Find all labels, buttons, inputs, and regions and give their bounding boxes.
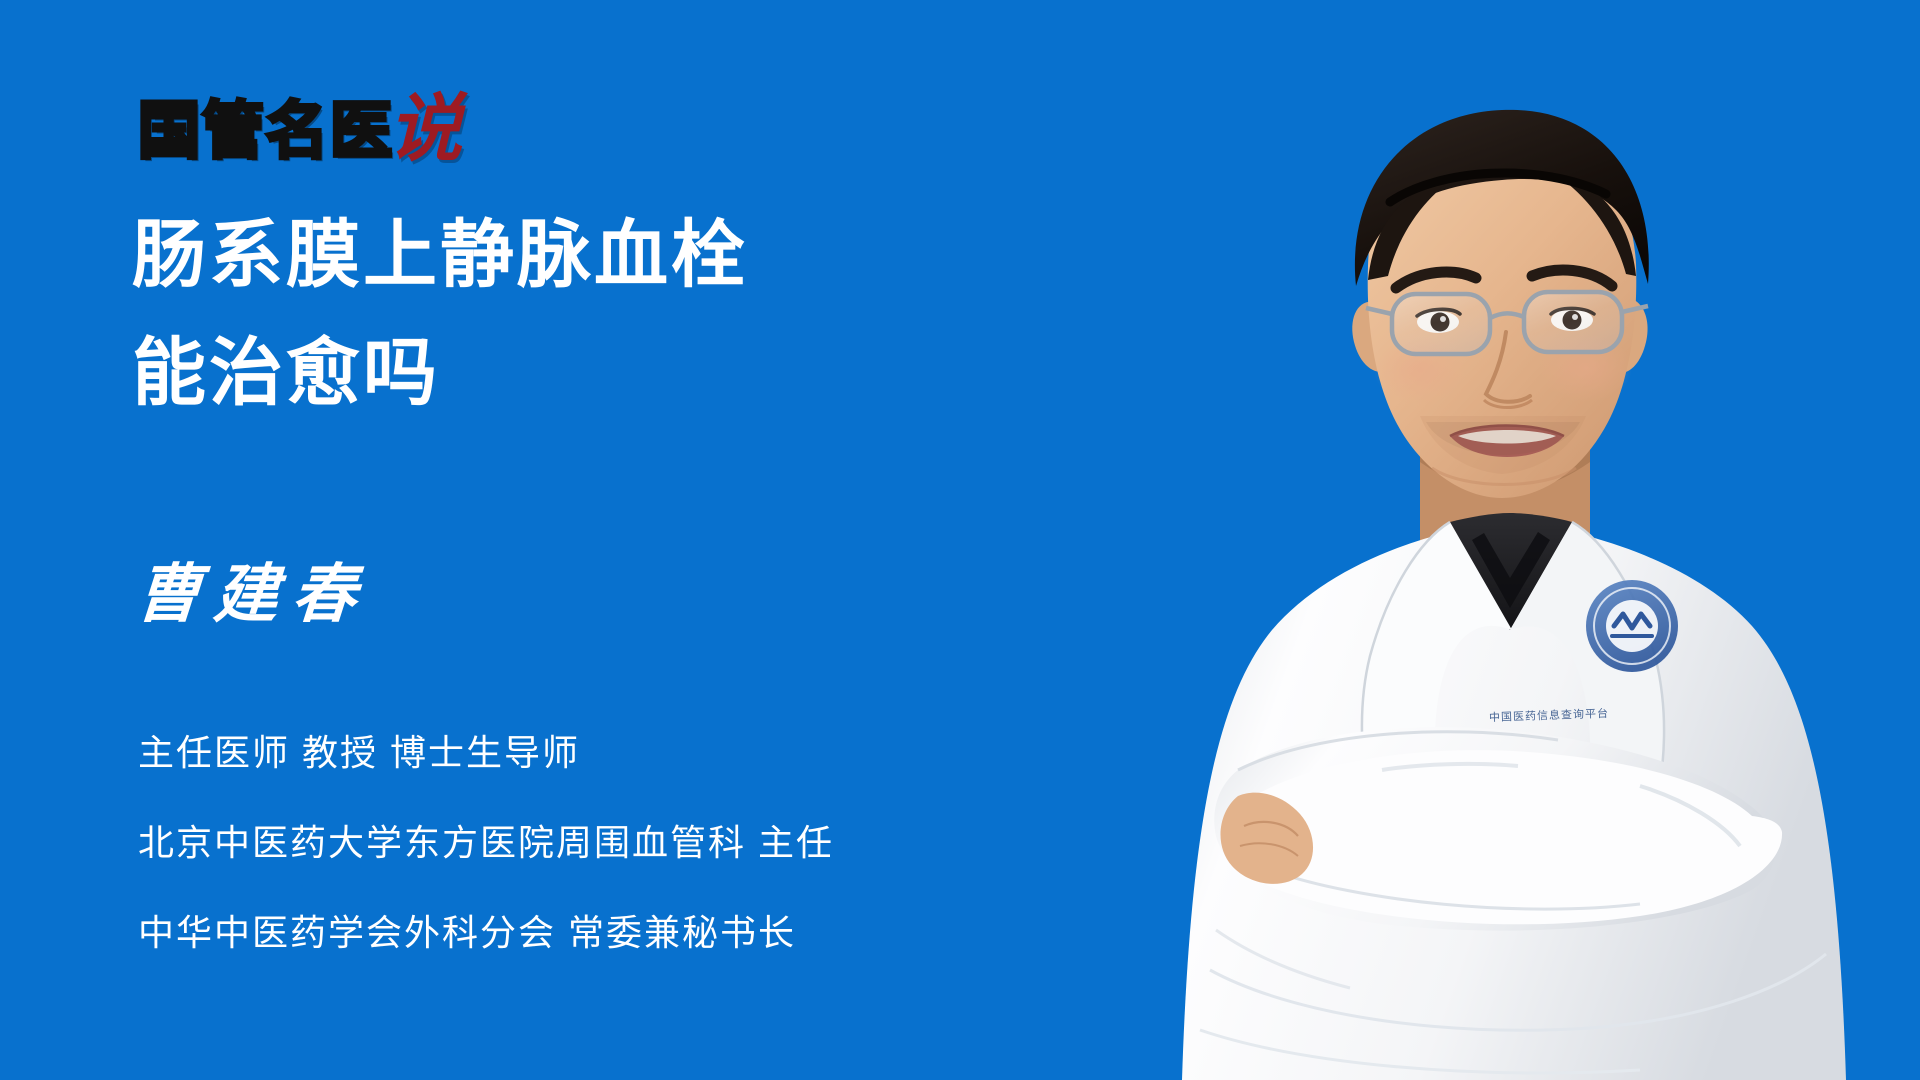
doctor-name: 曹建春 — [134, 563, 372, 627]
poster-canvas: 国管名医 说 肠系膜上静脉血栓 能治愈吗 曹建春 主任医师 教授 博士生导师 北… — [0, 0, 1920, 1080]
brand-logo-accent-text: 说 — [388, 92, 462, 166]
headline-line-1: 肠系膜上静脉血栓 — [132, 196, 1032, 314]
brand-logo: 国管名医 说 — [138, 92, 462, 162]
doctor-portrait — [1120, 70, 1900, 1080]
brand-logo-main-text: 国管名医 — [138, 100, 394, 162]
doctor-credentials: 主任医师 教授 博士生导师 北京中医药大学东方医院周围血管科 主任 中华中医药学… — [138, 708, 1138, 978]
credential-line-3: 中华中医药学会外科分会 常委兼秘书长 — [138, 888, 1138, 978]
credential-line-2: 北京中医药大学东方医院周围血管科 主任 — [138, 798, 1138, 888]
headline-line-2: 能治愈吗 — [132, 314, 1032, 432]
medical-badge-icon — [1586, 580, 1678, 672]
headline-title: 肠系膜上静脉血栓 能治愈吗 — [132, 196, 1032, 432]
credential-line-1: 主任医师 教授 博士生导师 — [138, 708, 1138, 798]
